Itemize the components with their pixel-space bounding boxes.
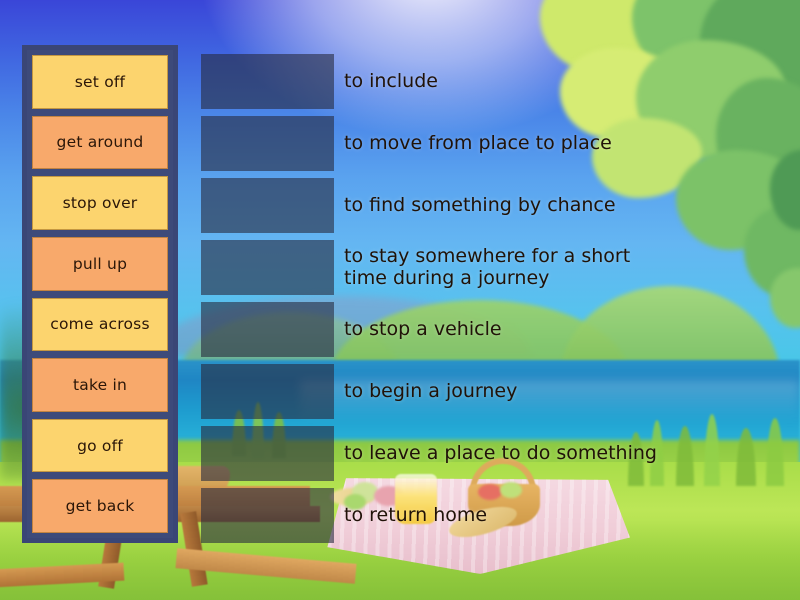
word-tile-take-in[interactable]: take in: [32, 358, 168, 412]
word-tile-get-back[interactable]: get back: [32, 479, 168, 533]
word-tile-label: stop over: [63, 194, 138, 212]
word-tile-panel: set off get around stop over pull up com…: [22, 45, 178, 543]
definition-column: to include to move from place to place t…: [344, 54, 792, 543]
dropzone-2[interactable]: [201, 116, 334, 171]
word-tile-come-across[interactable]: come across: [32, 298, 168, 352]
definition-5: to stop a vehicle: [344, 302, 792, 357]
definition-1: to include: [344, 54, 792, 109]
definition-7: to leave a place to do something: [344, 426, 792, 481]
word-tile-get-around[interactable]: get around: [32, 116, 168, 170]
definition-6: to begin a journey: [344, 364, 792, 419]
dropzone-4[interactable]: [201, 240, 334, 295]
word-tile-stop-over[interactable]: stop over: [32, 176, 168, 230]
dropzone-5[interactable]: [201, 302, 334, 357]
dropzone-8[interactable]: [201, 488, 334, 543]
definition-3: to find something by chance: [344, 178, 792, 233]
word-tile-label: go off: [77, 437, 123, 455]
word-tile-pull-up[interactable]: pull up: [32, 237, 168, 291]
dropzone-1[interactable]: [201, 54, 334, 109]
word-tile-label: get around: [57, 133, 144, 151]
definition-8: to return home: [344, 488, 792, 543]
word-tile-set-off[interactable]: set off: [32, 55, 168, 109]
dropzone-7[interactable]: [201, 426, 334, 481]
definition-2: to move from place to place: [344, 116, 792, 171]
dropzone-3[interactable]: [201, 178, 334, 233]
word-tile-label: set off: [75, 73, 125, 91]
definition-4: to stay somewhere for a short time durin…: [344, 240, 664, 295]
word-tile-label: pull up: [73, 255, 127, 273]
word-tile-label: take in: [73, 376, 127, 394]
dropzone-6[interactable]: [201, 364, 334, 419]
word-tile-label: get back: [66, 497, 135, 515]
word-tile-go-off[interactable]: go off: [32, 419, 168, 473]
dropzone-column: [201, 54, 334, 543]
word-tile-label: come across: [50, 315, 149, 333]
